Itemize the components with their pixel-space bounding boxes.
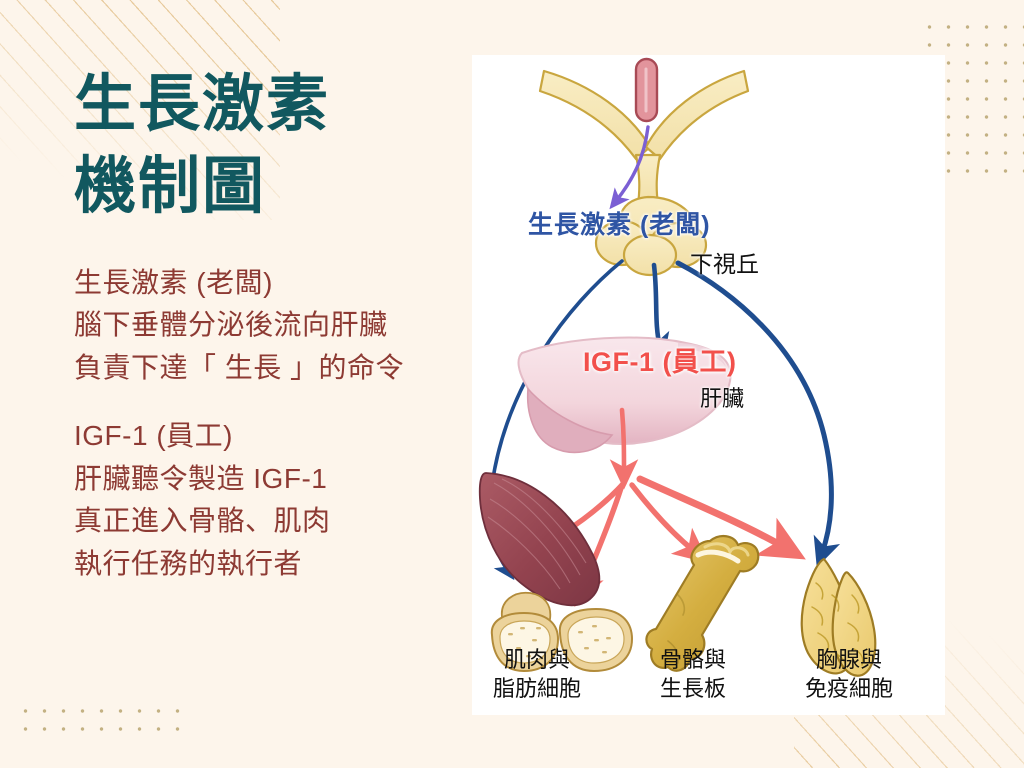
label-target-1-line-1: 肌肉與: [478, 645, 596, 674]
label-igf1: IGF-1 (員工): [583, 340, 737, 379]
paragraph-growth-hormone: 生長激素 (老闆) 腦下垂體分泌後流向肝臟 負責下達「 生長 」的命令: [74, 262, 474, 390]
igf1-arrow-down: [622, 410, 624, 473]
label-growth-hormone: 生長激素 (老闆): [528, 205, 711, 241]
paragraph-igf1: IGF-1 (員工) 肝臟聽令製造 IGF-1 真正進入骨骼、肌肉 執行任務的執…: [74, 415, 474, 585]
body-text: 生長激素 (老闆) 腦下垂體分泌後流向肝臟 負責下達「 生長 」的命令 IGF-…: [74, 262, 474, 586]
hormone-capsule-icon: [636, 59, 657, 121]
text-column: 生長激素 機制圖 生長激素 (老闆) 腦下垂體分泌後流向肝臟 負責下達「 生長 …: [74, 64, 474, 585]
gh-arrow-to-liver: [654, 265, 660, 347]
label-target-1-line-2: 脂肪細胞: [478, 674, 596, 703]
label-target-muscle-fat: 肌肉與 脂肪細胞: [478, 645, 596, 704]
label-target-2-line-1: 骨骼與: [634, 645, 752, 674]
page-title-line-1: 生長激素: [74, 64, 474, 146]
label-hypothalamus: 下視丘: [690, 245, 759, 279]
paragraph-1-heading: 生長激素 (老闆): [74, 262, 474, 305]
decorative-dot-grid-bottom-left: [14, 700, 194, 740]
paragraph-1-line-1: 腦下垂體分泌後流向肝臟: [74, 304, 474, 347]
label-liver: 肝臟: [700, 381, 744, 413]
igf1-arrow-to-thymus: [640, 479, 784, 547]
paragraph-2-heading: IGF-1 (員工): [74, 415, 474, 458]
page-title: 生長激素 機制圖: [74, 64, 474, 228]
page-title-line-2: 機制圖: [74, 146, 474, 228]
muscle-illustration: [480, 473, 600, 605]
paragraph-2-line-3: 執行任務的執行者: [74, 543, 474, 586]
label-target-3-line-1: 胸腺與: [790, 645, 908, 674]
label-target-3-line-2: 免疫細胞: [790, 674, 908, 703]
paragraph-2-line-2: 真正進入骨骼、肌肉: [74, 500, 474, 543]
label-target-2-line-2: 生長板: [634, 674, 752, 703]
igf1-arrow-to-bone: [632, 485, 694, 551]
paragraph-2-line-1: 肝臟聽令製造 IGF-1: [74, 458, 474, 501]
paragraph-1-line-2: 負責下達「 生長 」的命令: [74, 347, 474, 390]
label-target-thymus-immune: 胸腺與 免疫細胞: [790, 645, 908, 704]
slide-root: 生長激素 機制圖 生長激素 (老闆) 腦下垂體分泌後流向肝臟 負責下達「 生長 …: [0, 0, 1024, 768]
label-target-bone-growthplate: 骨骼與 生長板: [634, 645, 752, 704]
